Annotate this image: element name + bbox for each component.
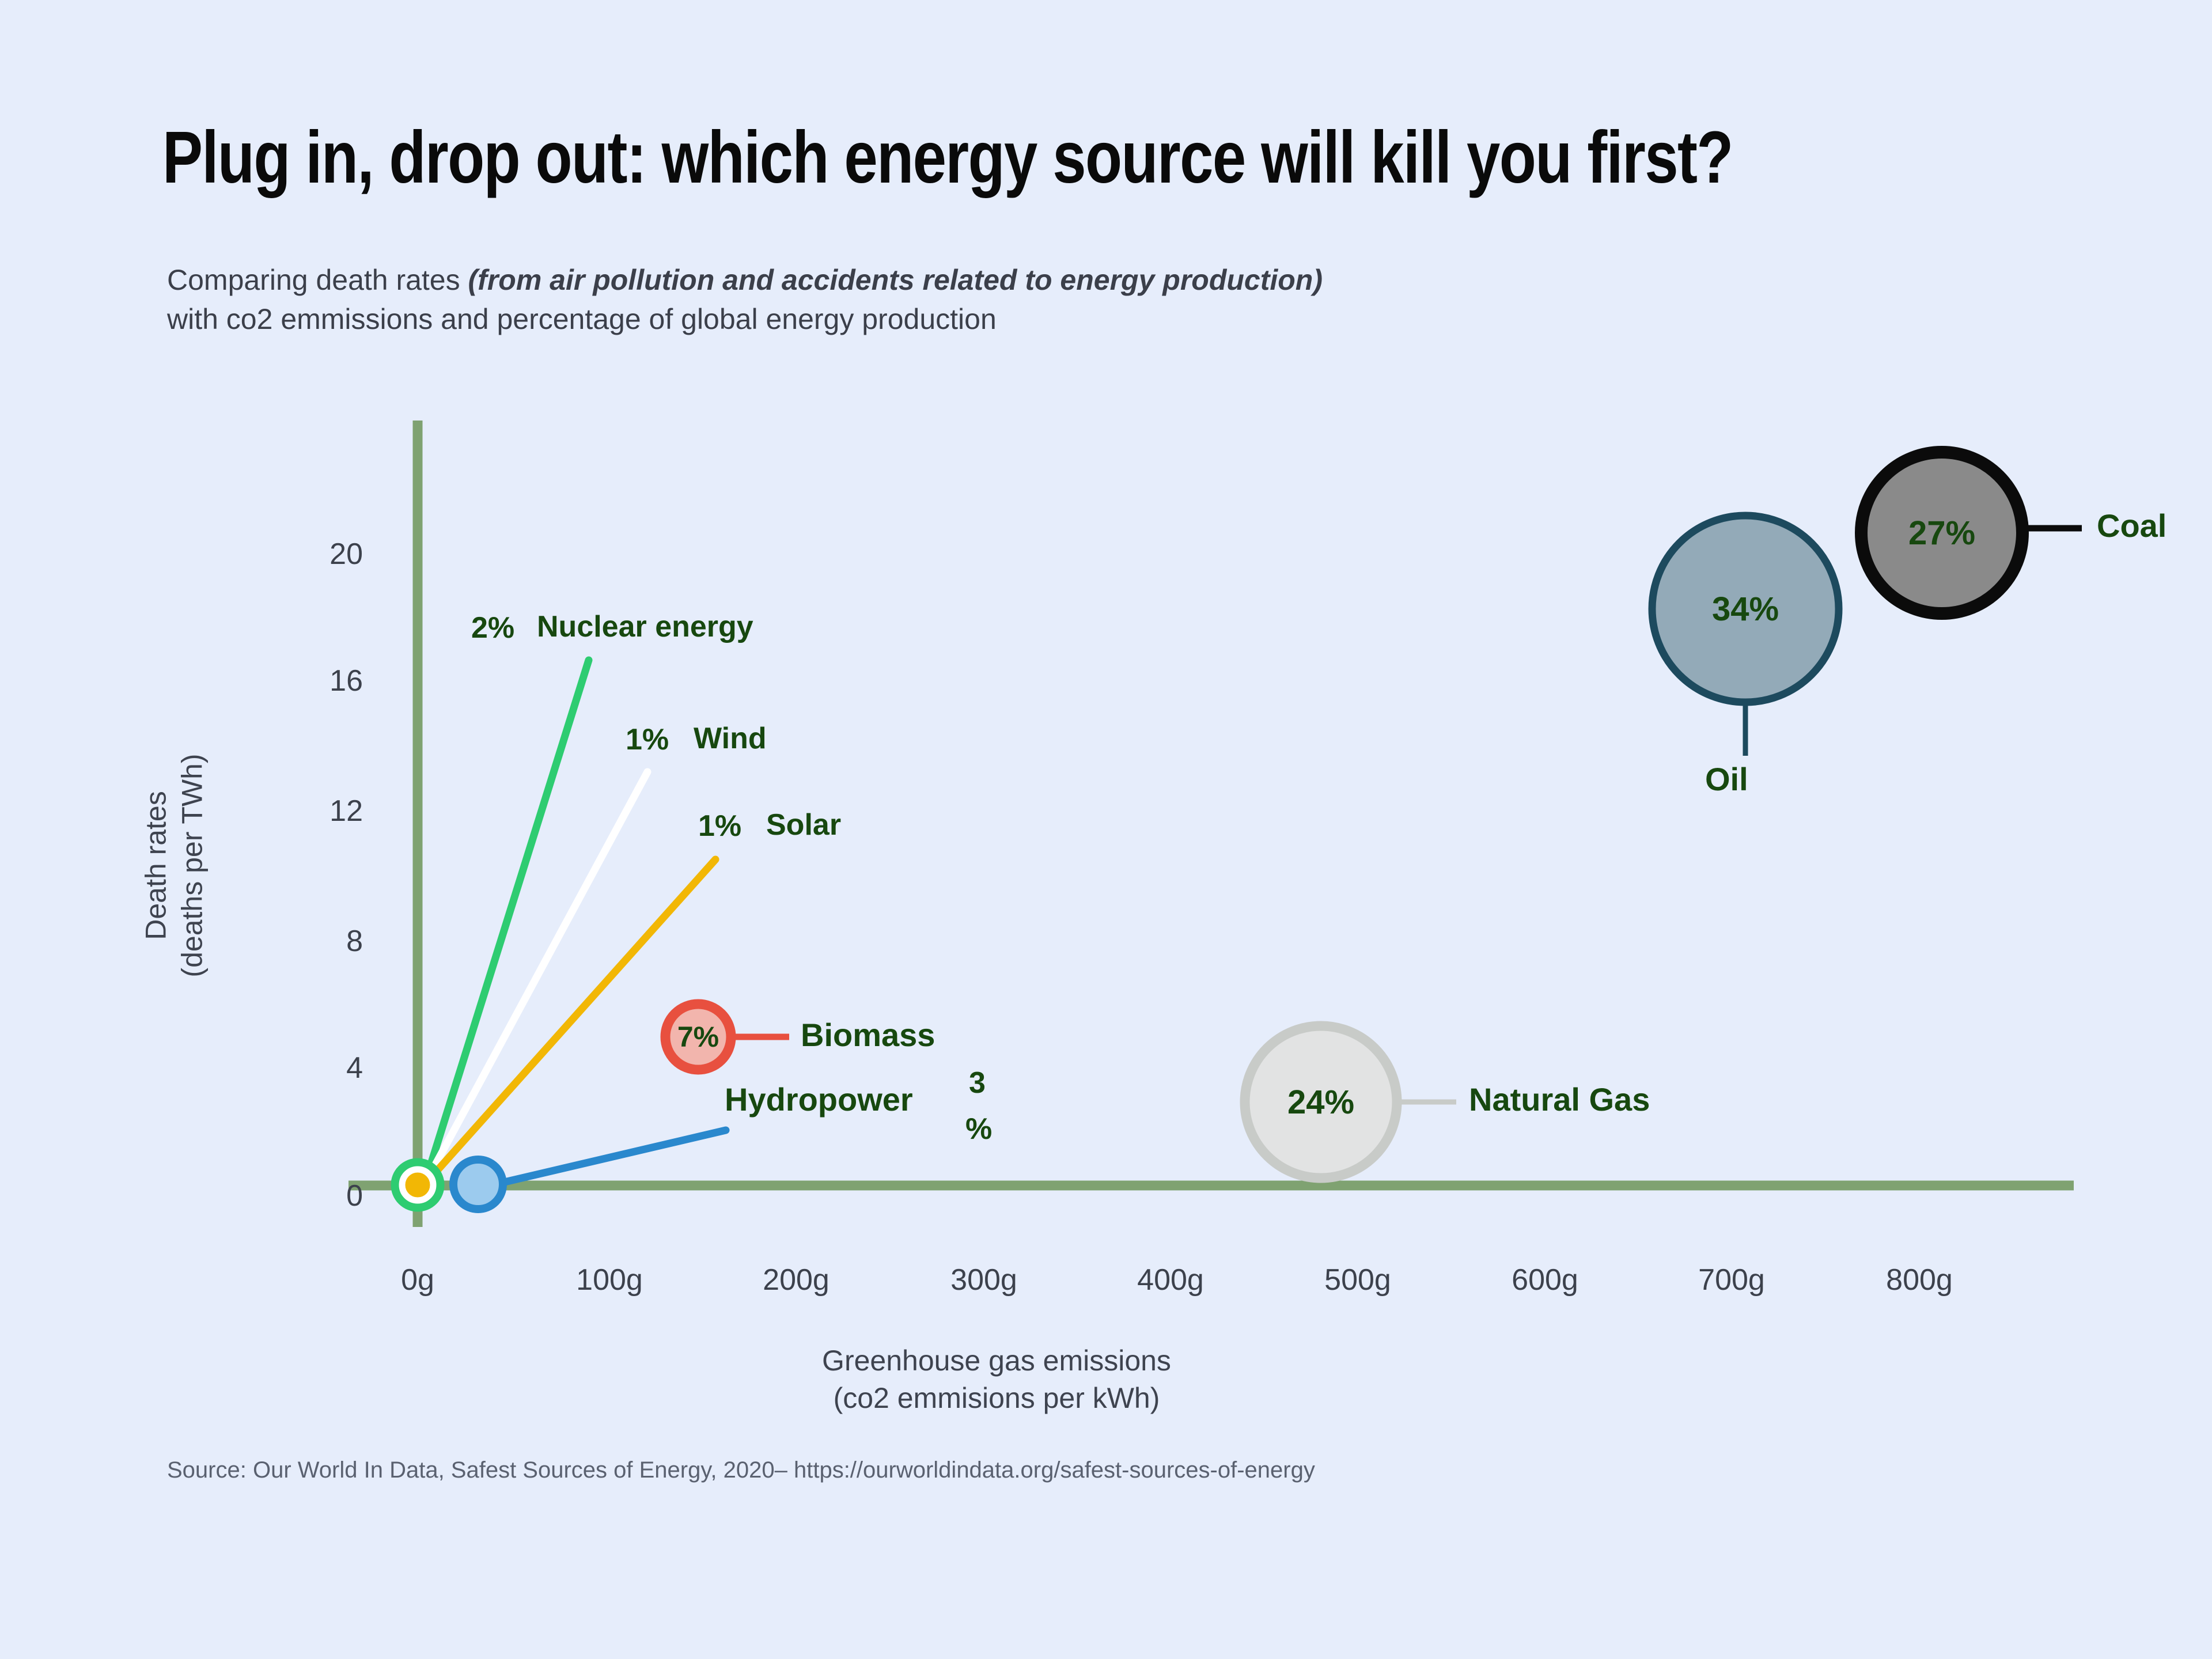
y-axis-title: Death rates (deaths per TWh) [138,681,210,1050]
x-tick-600g: 600g [1476,1263,1614,1297]
coal-percent-label: 27% [1884,475,1999,590]
x-tick-300g: 300g [915,1263,1053,1297]
y-axis-title-line-1: Death rates [140,791,172,940]
x-tick-800g: 800g [1850,1263,1988,1297]
nuclear-percent-label: 2% [471,611,514,645]
x-axis-title-line-1: Greenhouse gas emissions [822,1344,1171,1377]
biomass-label: Biomass [801,1016,935,1054]
natural-gas-percent-label: 24% [1263,1044,1378,1160]
hydropower-trend-line [505,1130,726,1182]
y-tick-4: 4 [271,1051,363,1085]
solar-percent-label: 1% [698,809,741,843]
x-tick-400g: 400g [1101,1263,1240,1297]
x-tick-100g: 100g [540,1263,679,1297]
x-axis-title: Greenhouse gas emissions (co2 emmisions … [593,1342,1400,1417]
y-axis-title-line-2: (deaths per TWh) [176,753,208,977]
solar-label: Solar [766,808,841,842]
wind-label: Wind [694,721,767,756]
hydropower-percent-number: 3 [969,1066,986,1100]
y-tick-20: 20 [271,537,363,571]
y-tick-0: 0 [271,1179,363,1213]
y-tick-8: 8 [271,924,363,959]
y-tick-16: 16 [271,664,363,698]
biomass-percent-label: 7% [658,997,738,1077]
oil-percent-label: 34% [1688,551,1803,666]
x-axis-title-line-2: (co2 emmisions per kWh) [834,1382,1160,1414]
y-tick-12: 12 [271,794,363,828]
hydropower-label: Hydropower [725,1081,913,1118]
chart-canvas: Plug in, drop out: which energy source w… [0,0,2212,1659]
coal-label: Coal [2097,507,2166,544]
x-tick-0g: 0g [349,1263,487,1297]
natural-gas-label: Natural Gas [1469,1081,1650,1118]
solar-bubble[interactable] [406,1173,429,1196]
hydropower-bubble[interactable] [453,1160,503,1209]
x-tick-700g: 700g [1662,1263,1801,1297]
x-tick-200g: 200g [727,1263,865,1297]
x-tick-500g: 500g [1289,1263,1427,1297]
oil-label: Oil [1705,760,1748,798]
wind-percent-label: 1% [626,722,669,757]
nuclear-label: Nuclear energy [537,609,753,644]
source-note: Source: Our World In Data, Safest Source… [167,1457,1315,1483]
hydropower-percent-sign: % [965,1112,992,1146]
